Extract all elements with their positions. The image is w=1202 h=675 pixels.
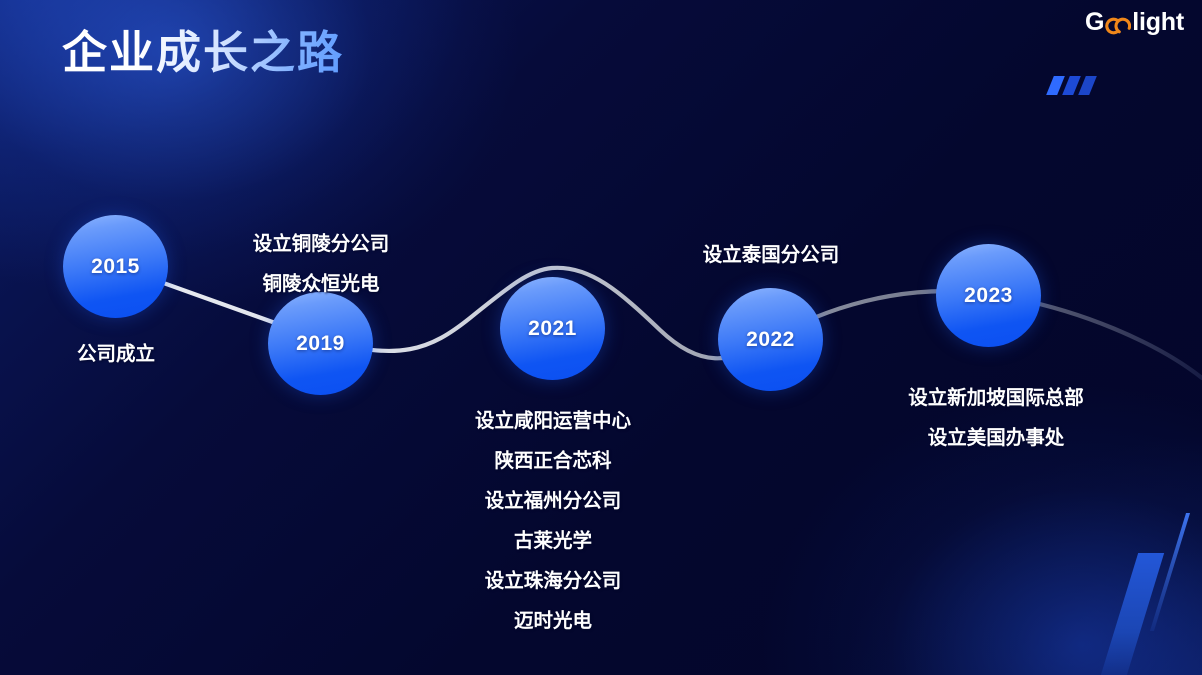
slash-icon: [1078, 76, 1097, 95]
note-line: 铜陵众恒光电: [240, 264, 402, 304]
timeline-node-2023[interactable]: 2023: [936, 244, 1041, 347]
timeline-node-2015[interactable]: 2015: [63, 215, 168, 318]
note-line: 设立新加坡国际总部: [888, 378, 1104, 418]
timeline-note-2015: 公司成立: [36, 334, 196, 374]
timeline-node-year: 2015: [91, 255, 140, 279]
logo-text-suffix: light: [1132, 10, 1184, 35]
slide-canvas: 企业成长之路 G light: [0, 0, 1202, 675]
timeline-node-2021[interactable]: 2021: [500, 277, 605, 380]
note-line: 设立铜陵分公司: [240, 224, 402, 264]
timeline-note-2022: 设立泰国分公司: [690, 235, 852, 275]
note-line: 设立泰国分公司: [690, 235, 852, 275]
slash-icon: [1046, 76, 1065, 95]
page-title: 企业成长之路: [62, 16, 344, 81]
note-line: 设立咸阳运营中心: [472, 401, 634, 441]
timeline-node-2022[interactable]: 2022: [718, 288, 823, 391]
note-line: 迈时光电: [472, 601, 634, 641]
timeline-node-year: 2019: [296, 332, 345, 356]
timeline-node-year: 2022: [746, 328, 795, 352]
timeline-node-2019[interactable]: 2019: [268, 292, 373, 395]
note-line: 陕西正合芯科: [472, 441, 634, 481]
note-line: 设立珠海分公司: [472, 561, 634, 601]
timeline-note-2019: 设立铜陵分公司 铜陵众恒光电: [240, 224, 402, 304]
slash-icon: [1062, 76, 1081, 95]
note-line: 公司成立: [36, 334, 196, 374]
brand-logo: G light: [1085, 10, 1184, 35]
note-line: 古莱光学: [472, 521, 634, 561]
slash-decoration-bottom-right-thin: [1150, 513, 1190, 631]
slash-decoration-bottom-right: [1098, 553, 1164, 675]
timeline-note-2023: 设立新加坡国际总部 设立美国办事处: [888, 378, 1104, 458]
infinity-mark-icon: [1105, 15, 1131, 33]
note-line: 设立美国办事处: [888, 418, 1104, 458]
note-line: 设立福州分公司: [472, 481, 634, 521]
timeline-node-year: 2021: [528, 317, 577, 341]
timeline-note-2021: 设立咸阳运营中心 陕西正合芯科 设立福州分公司 古莱光学 设立珠海分公司 迈时光…: [472, 401, 634, 641]
slash-decoration-top-right: [1050, 76, 1093, 95]
timeline-node-year: 2023: [964, 284, 1013, 308]
logo-text-prefix: G: [1085, 10, 1104, 35]
